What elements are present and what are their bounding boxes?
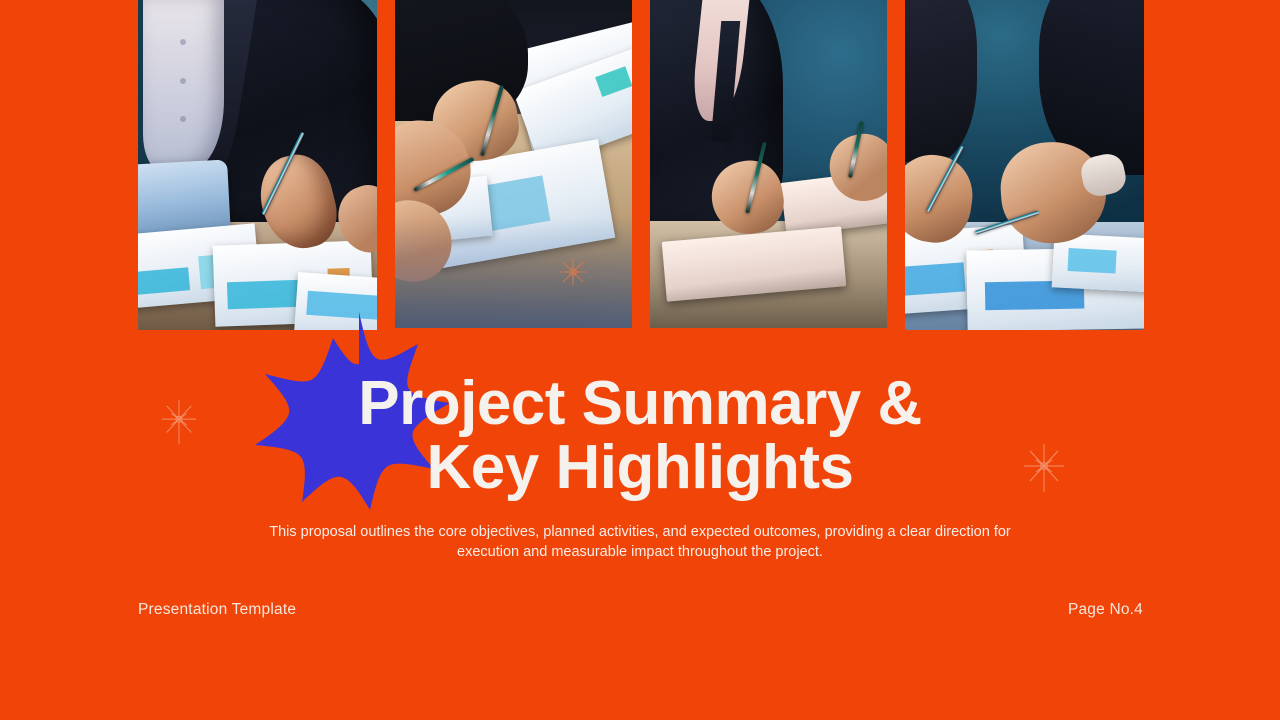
presentation-slide: Project Summary & Key Highlights This pr… [0, 0, 1280, 720]
title-line-1: Project Summary & [0, 372, 1280, 436]
photo-strip [0, 0, 1280, 335]
slide-subtitle: This proposal outlines the core objectiv… [248, 522, 1032, 562]
sparkle-icon [556, 255, 590, 289]
subtitle-line-1: This proposal outlines the core objectiv… [269, 524, 1011, 540]
photo-panel-3[interactable] [650, 0, 887, 328]
photo-1-scene [138, 0, 377, 330]
slide-title: Project Summary & Key Highlights [0, 372, 1280, 500]
footer-template-label: Presentation Template [138, 601, 296, 619]
photo-2-scene [395, 0, 632, 328]
photo-panel-1[interactable] [138, 0, 377, 330]
photo-3-scene [650, 0, 887, 328]
photo-panel-4[interactable] [905, 0, 1144, 330]
photo-4-scene [905, 0, 1144, 330]
subtitle-line-2: execution and measurable impact througho… [457, 544, 823, 560]
photo-panel-2[interactable] [395, 0, 632, 328]
footer-page-number: Page No.4 [1068, 601, 1143, 619]
title-line-2: Key Highlights [0, 436, 1280, 500]
